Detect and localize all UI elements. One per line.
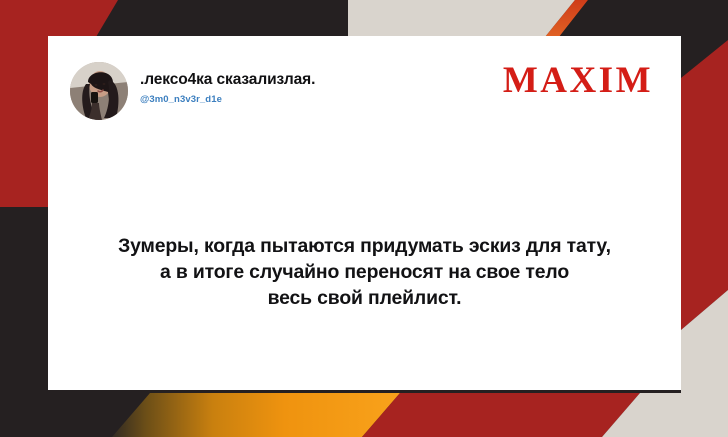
bg-bottom-orange [112, 393, 400, 437]
meme-image: .лексо4ка сказализлая. @3m0_n3v3r_d1e MA… [0, 0, 728, 437]
avatar-photo-icon [70, 62, 128, 120]
avatar [70, 62, 128, 120]
bg-bottom-red [362, 393, 640, 437]
account-block: .лексо4ка сказализлая. @3m0_n3v3r_d1e [140, 70, 470, 105]
bg-right-red-diagonal [681, 40, 728, 330]
meme-card: .лексо4ка сказализлая. @3m0_n3v3r_d1e MA… [48, 36, 681, 390]
joke-line-2: а в итоге случайно переносят на свое тел… [70, 260, 659, 286]
maxim-logo: MAXIM [503, 62, 653, 99]
joke-line-3: весь свой плейлист. [70, 286, 659, 312]
bg-top-black [96, 0, 344, 37]
tweet-header: .лексо4ка сказализлая. @3m0_n3v3r_d1e MA… [48, 36, 681, 132]
bg-top-beige [348, 0, 575, 37]
bg-right-black [681, 0, 728, 40]
account-handle[interactable]: @3m0_n3v3r_d1e [140, 94, 470, 105]
joke-text: Зумеры, когда пытаются придумать эскиз д… [48, 234, 681, 311]
display-name: .лексо4ка сказализлая. [140, 70, 470, 89]
joke-line-1: Зумеры, когда пытаются придумать эскиз д… [70, 234, 659, 260]
